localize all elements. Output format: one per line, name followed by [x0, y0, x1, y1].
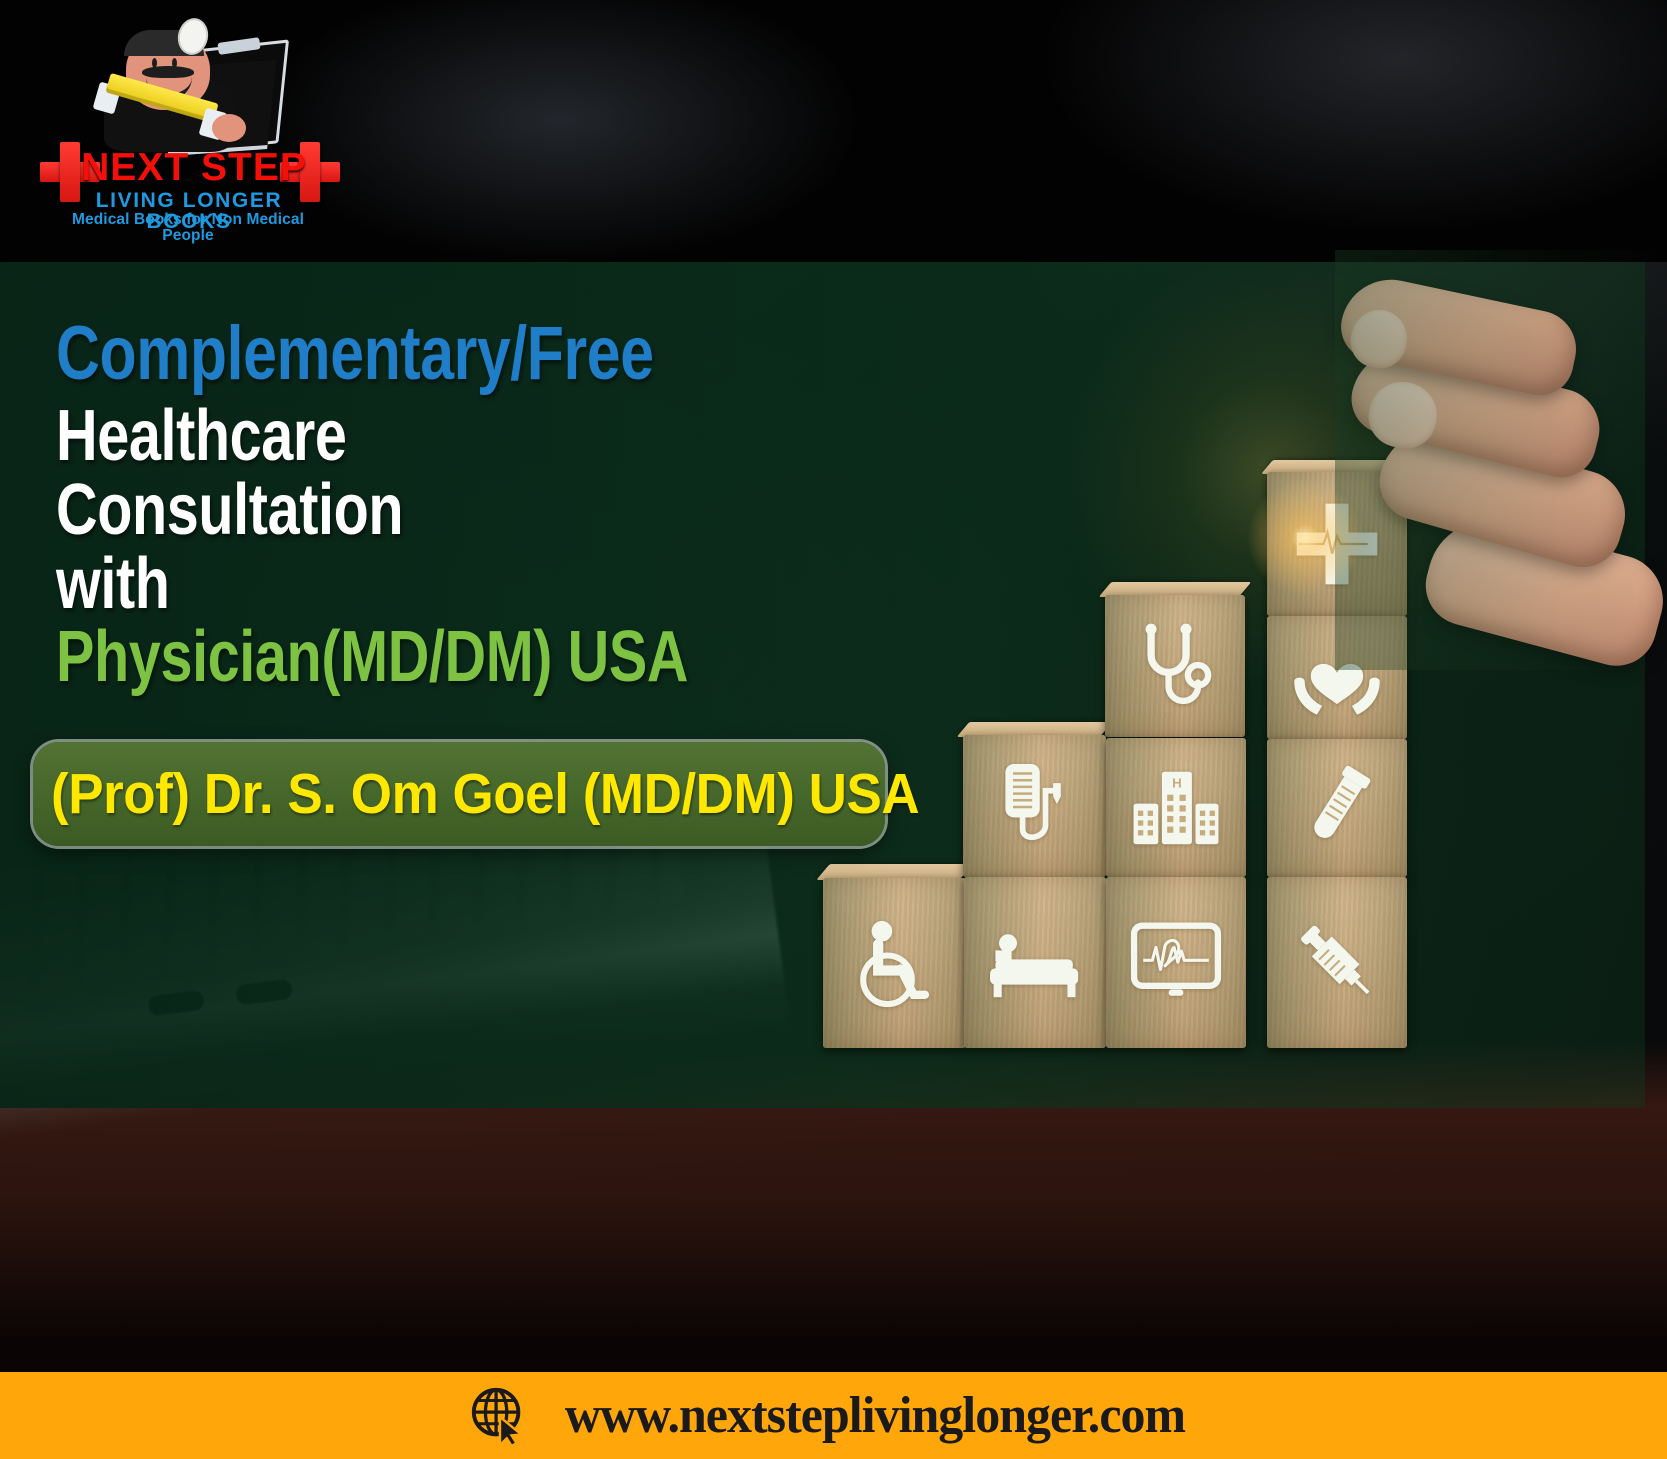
wheelchair-accessible-icon	[852, 917, 938, 1009]
headline-line-4: with	[56, 551, 776, 619]
headline-line-3: Consultation	[56, 477, 776, 545]
logo-brand-name: NEXT STEP	[74, 148, 314, 187]
website-url[interactable]: www.nextsteplivinglonger.com	[565, 1386, 1185, 1445]
doctor-cartoon-icon	[90, 18, 280, 153]
headline-line-5: Physician(MD/DM) USA	[56, 624, 776, 692]
logo-tagline: Medical Books for Non Medical People	[48, 212, 328, 243]
light-glow	[1245, 478, 1365, 598]
wooden-block	[963, 735, 1106, 877]
website-footer-bar[interactable]: www.nextsteplivinglonger.com	[0, 1372, 1667, 1459]
wooden-block	[1267, 739, 1407, 877]
doctor-name-text: (Prof) Dr. S. Om Goel (MD/DM) USA	[51, 761, 919, 827]
svg-text:H: H	[1172, 775, 1182, 790]
hospital-building-icon: H	[1130, 769, 1222, 847]
wooden-block	[1106, 877, 1246, 1048]
test-tube-icon	[1294, 762, 1380, 854]
hospital-bed-icon	[988, 927, 1082, 999]
brand-logo[interactable]: NEXT STEP LIVING LONGER BOOKS Medical Bo…	[18, 8, 318, 233]
hand-placing-block	[1335, 250, 1665, 670]
wooden-block	[964, 877, 1106, 1048]
ecg-monitor-icon	[1130, 922, 1222, 1004]
healthcare-consultation-banner: NEXT STEP LIVING LONGER BOOKS Medical Bo…	[0, 0, 1667, 1459]
headline-line-2: Healthcare	[56, 403, 776, 471]
syringe-icon	[1292, 917, 1382, 1009]
stethoscope-icon	[1129, 620, 1221, 712]
wooden-block	[1105, 595, 1245, 737]
headline-block: Complementary/Free Healthcare Consultati…	[56, 318, 956, 692]
headline-line-1: Complementary/Free	[56, 318, 776, 389]
iv-drip-icon	[992, 758, 1078, 854]
wooden-block	[823, 878, 966, 1048]
wooden-block	[1267, 877, 1407, 1048]
wooden-block: H	[1106, 738, 1246, 877]
doctor-name-plate: (Prof) Dr. S. Om Goel (MD/DM) USA	[33, 742, 885, 846]
globe-cursor-icon	[468, 1385, 530, 1447]
